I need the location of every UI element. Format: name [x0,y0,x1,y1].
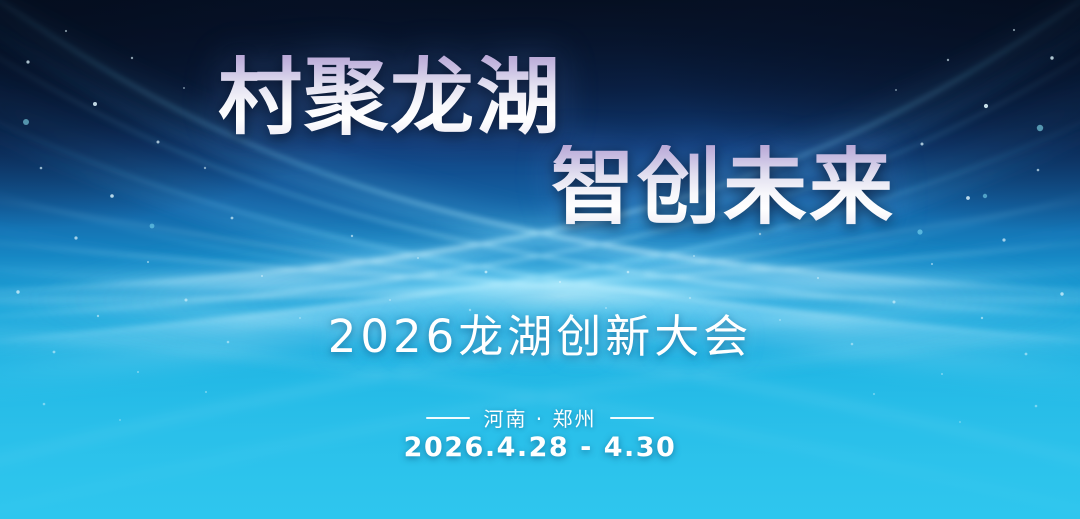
headline-line-1: 村聚龙湖 [218,55,562,139]
location-row: 河南 · 郑州 [0,403,1080,432]
event-subtitle: 2026龙湖创新大会 [0,300,1080,365]
rule-left-icon [426,417,470,419]
event-location: 河南 · 郑州 [483,403,596,432]
event-date-range: 2026.4.28 - 4.30 [0,432,1080,463]
rule-right-icon [610,417,654,419]
headline-line-2: 智创未来 [551,145,895,229]
event-poster: 村聚龙湖 智创未来 2026龙湖创新大会 河南 · 郑州 2026.4.28 -… [0,0,1080,519]
poster-content: 村聚龙湖 智创未来 2026龙湖创新大会 河南 · 郑州 2026.4.28 -… [0,0,1080,519]
